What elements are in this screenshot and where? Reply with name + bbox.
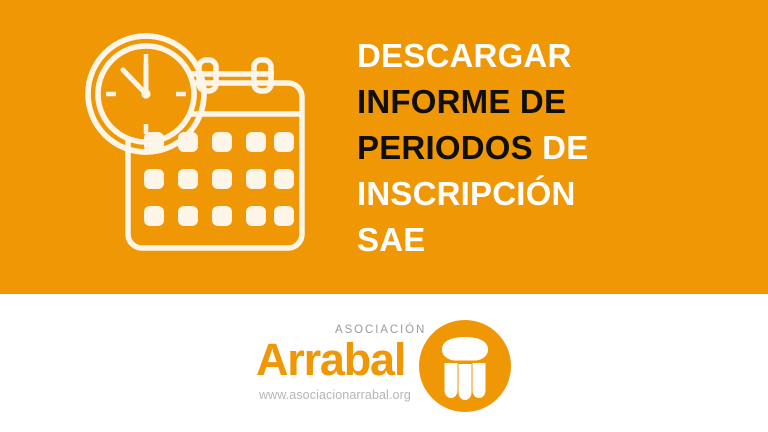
headline-line-1: DESCARGAR	[357, 33, 757, 79]
headline-block: DESCARGAR INFORME DE PERIODOS DE INSCRIP…	[357, 33, 757, 263]
footer-section: ASOCIACIÓN Arrabal www.asociacionarrabal…	[0, 294, 768, 432]
headline-line-5: SAE	[357, 217, 757, 263]
logo-text-group: ASOCIACIÓN Arrabal www.asociacionarrabal…	[256, 316, 440, 412]
headline-line-3-emphasis: PERIODOS	[357, 129, 533, 166]
hero-section: DESCARGAR INFORME DE PERIODOS DE INSCRIP…	[0, 0, 768, 294]
headline-line-3: PERIODOS DE	[357, 125, 757, 171]
dolmen-circle-logo-icon	[419, 320, 511, 412]
headline-line-2: INFORME DE	[357, 79, 757, 125]
promo-banner: DESCARGAR INFORME DE PERIODOS DE INSCRIP…	[0, 0, 768, 432]
arrabal-logo: ASOCIACIÓN Arrabal www.asociacionarrabal…	[256, 316, 522, 412]
calendar-clock-icon	[78, 28, 336, 256]
logo-url: www.asociacionarrabal.org	[259, 388, 411, 402]
headline-line-3-tail: DE	[533, 129, 589, 166]
logo-wordmark: Arrabal	[256, 337, 405, 382]
headline-line-4: INSCRIPCIÓN	[357, 171, 757, 217]
